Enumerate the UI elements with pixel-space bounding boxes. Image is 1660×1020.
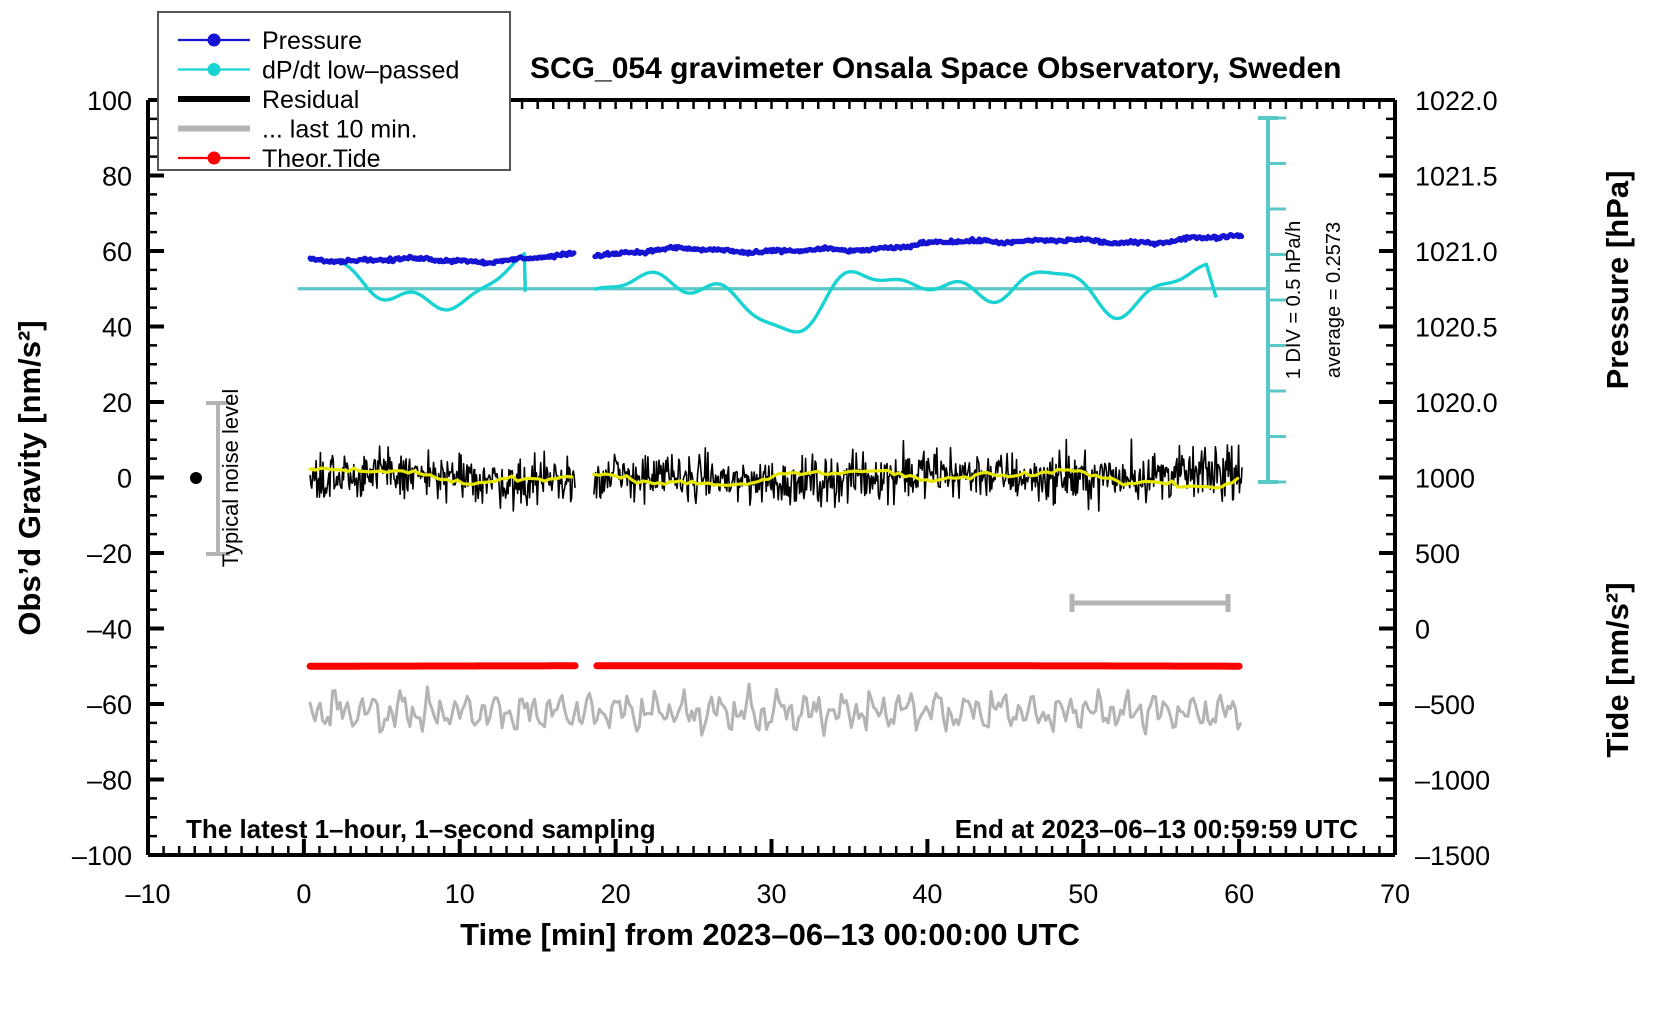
right-tide-axis-title: Tide [nm/s²] — [1600, 582, 1635, 757]
legend-item-label: Theor.Tide — [262, 145, 381, 173]
legend-item-label: ... last 10 min. — [262, 116, 418, 144]
svg-text:1020.0: 1020.0 — [1415, 388, 1498, 418]
svg-text:20: 20 — [102, 388, 132, 418]
legend-marker-dot — [208, 152, 221, 165]
gravimeter-chart: SCG_054 gravimeter Onsala Space Observat… — [0, 0, 1660, 1020]
average-label: average = 0.2573 — [1323, 222, 1345, 378]
legend-item-label: Residual — [262, 86, 359, 114]
svg-text:40: 40 — [102, 313, 132, 343]
svg-text:70: 70 — [1380, 879, 1410, 909]
x-axis-title: Time [min] from 2023–06–13 00:00:00 UTC — [460, 917, 1080, 952]
svg-text:1020.5: 1020.5 — [1415, 313, 1498, 343]
svg-text:500: 500 — [1415, 539, 1460, 569]
svg-text:30: 30 — [756, 879, 786, 909]
svg-text:20: 20 — [601, 879, 631, 909]
svg-text:50: 50 — [1068, 879, 1098, 909]
theor-tide-trace — [597, 666, 1239, 667]
svg-text:–100: –100 — [72, 841, 132, 871]
svg-text:1022.0: 1022.0 — [1415, 86, 1498, 116]
svg-text:40: 40 — [912, 879, 942, 909]
svg-text:80: 80 — [102, 162, 132, 192]
svg-text:0: 0 — [1415, 615, 1430, 645]
legend-item-label: Pressure — [262, 27, 362, 55]
legend-marker-dot — [208, 34, 221, 47]
svg-text:1021.0: 1021.0 — [1415, 237, 1498, 267]
svg-text:–1500: –1500 — [1415, 841, 1490, 871]
svg-text:–60: –60 — [87, 690, 132, 720]
svg-text:1000: 1000 — [1415, 464, 1475, 494]
legend[interactable]: PressuredP/dt low–passedResidual... last… — [158, 12, 510, 173]
page-title: SCG_054 gravimeter Onsala Space Observat… — [530, 52, 1342, 85]
right-pressure-axis-title: Pressure [hPa] — [1600, 171, 1635, 390]
svg-text:60: 60 — [102, 237, 132, 267]
svg-text:0: 0 — [117, 464, 132, 494]
svg-text:–80: –80 — [87, 766, 132, 796]
svg-text:100: 100 — [87, 86, 132, 116]
div-scale-label: 1 DIV = 0.5 hPa/h — [1283, 221, 1305, 379]
bottom-left-annotation: The latest 1–hour, 1–second sampling — [186, 814, 656, 844]
svg-text:–500: –500 — [1415, 690, 1475, 720]
legend-marker-dot — [208, 63, 221, 76]
svg-text:–10: –10 — [125, 879, 170, 909]
svg-text:0: 0 — [296, 879, 311, 909]
svg-text:10: 10 — [445, 879, 475, 909]
bottom-right-annotation: End at 2023–06–13 00:59:59 UTC — [955, 814, 1358, 844]
svg-text:–40: –40 — [87, 615, 132, 645]
typical-noise-level-label: Typical noise level — [218, 389, 243, 568]
svg-text:60: 60 — [1224, 879, 1254, 909]
svg-text:–20: –20 — [87, 539, 132, 569]
svg-text:–1000: –1000 — [1415, 766, 1490, 796]
svg-text:1021.5: 1021.5 — [1415, 162, 1498, 192]
legend-item-label: dP/dt low–passed — [262, 57, 459, 85]
y-axis-title: Obs’d Gravity [nm/s²] — [12, 320, 47, 635]
